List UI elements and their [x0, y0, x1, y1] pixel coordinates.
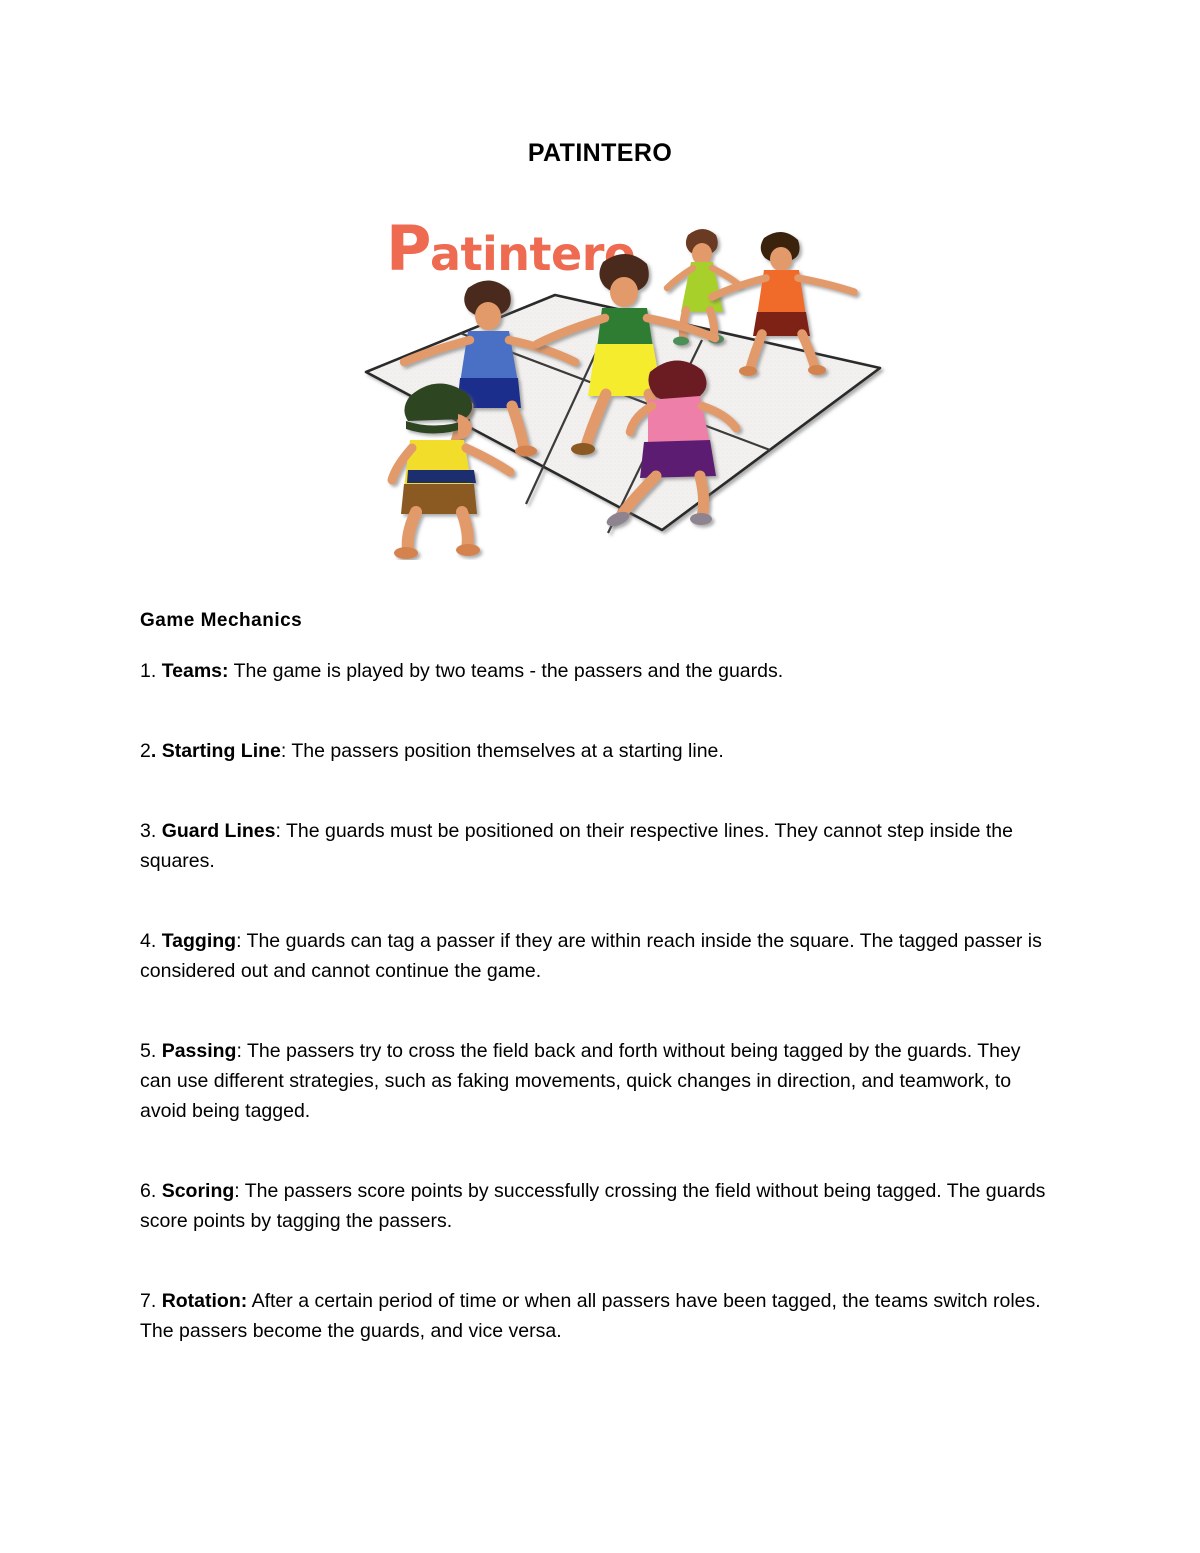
logo-letter-p: P	[386, 212, 431, 285]
document-page: PATINTERO	[0, 0, 1200, 1553]
mechanic-number: 2	[140, 740, 151, 762]
mechanic-term: Guard Lines	[162, 820, 276, 842]
mechanic-number: 5.	[140, 1040, 156, 1062]
mechanic-item-5: 5. Passing: The passers try to cross the…	[140, 1036, 1052, 1126]
mechanic-term: Passing	[162, 1040, 237, 1062]
patintero-logo-text: P atintero	[386, 212, 635, 285]
game-mechanics-section: Game Mechanics 1. Teams: The game is pla…	[140, 608, 1052, 1346]
mechanic-number: 1.	[140, 660, 156, 682]
mechanic-item-6: 6. Scoring: The passers score points by …	[140, 1176, 1052, 1236]
mechanic-term: . Starting Line	[151, 740, 281, 762]
mechanic-item-7: 7. Rotation: After a certain period of t…	[140, 1286, 1052, 1346]
mechanic-number: 6.	[140, 1180, 156, 1202]
patintero-illustration: P atintero	[350, 200, 900, 560]
mechanic-body: : The passers try to cross the field bac…	[140, 1040, 1021, 1122]
mechanic-term: Rotation:	[162, 1290, 248, 1312]
mechanic-item-2: 2. Starting Line: The passers position t…	[140, 736, 1052, 766]
mechanic-body: : The passers score points by successful…	[140, 1180, 1045, 1232]
mechanic-item-3: 3. Guard Lines: The guards must be posit…	[140, 816, 1052, 876]
mechanic-term: Scoring	[162, 1180, 235, 1202]
mechanic-body: : The guards can tag a passer if they ar…	[140, 930, 1042, 982]
patintero-clipart-svg: P atintero	[350, 200, 900, 560]
mechanic-item-4: 4. Tagging: The guards can tag a passer …	[140, 926, 1052, 986]
section-heading-game-mechanics: Game Mechanics	[140, 608, 1052, 634]
mechanic-body: After a certain period of time or when a…	[140, 1290, 1041, 1342]
page-title: PATINTERO	[0, 138, 1200, 168]
mechanic-term: Teams:	[162, 660, 229, 682]
mechanic-number: 3.	[140, 820, 156, 842]
mechanic-item-1: 1. Teams: The game is played by two team…	[140, 656, 1052, 686]
mechanic-body: : The passers position themselves at a s…	[281, 740, 724, 762]
mechanic-number: 4.	[140, 930, 156, 952]
mechanic-body: The game is played by two teams - the pa…	[229, 660, 784, 682]
mechanic-term: Tagging	[162, 930, 236, 952]
mechanic-number: 7.	[140, 1290, 156, 1312]
